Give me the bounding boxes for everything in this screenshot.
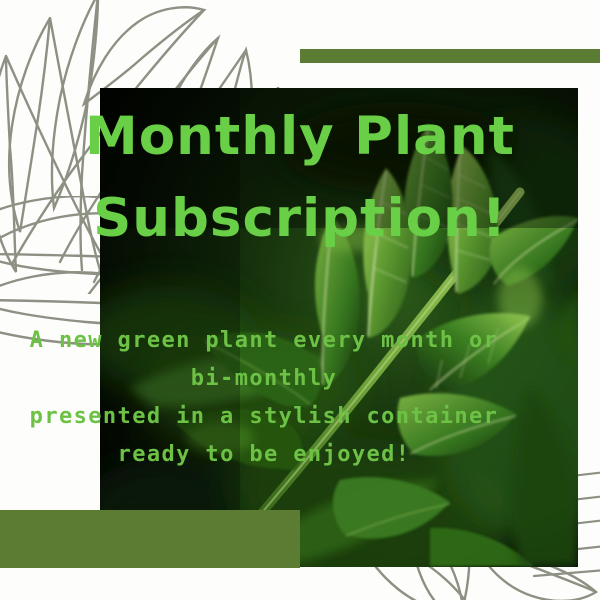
body-line-2: bi-monthly [0,360,528,398]
body-line-1: A new green plant every month or [0,322,528,360]
body-line-4: ready to be enjoyed! [0,436,528,474]
page-title: Monthly Plant Subscription! [60,96,540,260]
body-line-3: presented in a stylish container [0,398,528,436]
bottom-accent-bar [0,510,300,568]
headline-line-2: Subscription! [60,178,540,260]
top-accent-bar [300,49,600,63]
description-text: A new green plant every month or bi-mont… [0,322,528,474]
headline-line-1: Monthly Plant [60,96,540,178]
promo-poster: Monthly Plant Subscription! A new green … [0,0,600,600]
